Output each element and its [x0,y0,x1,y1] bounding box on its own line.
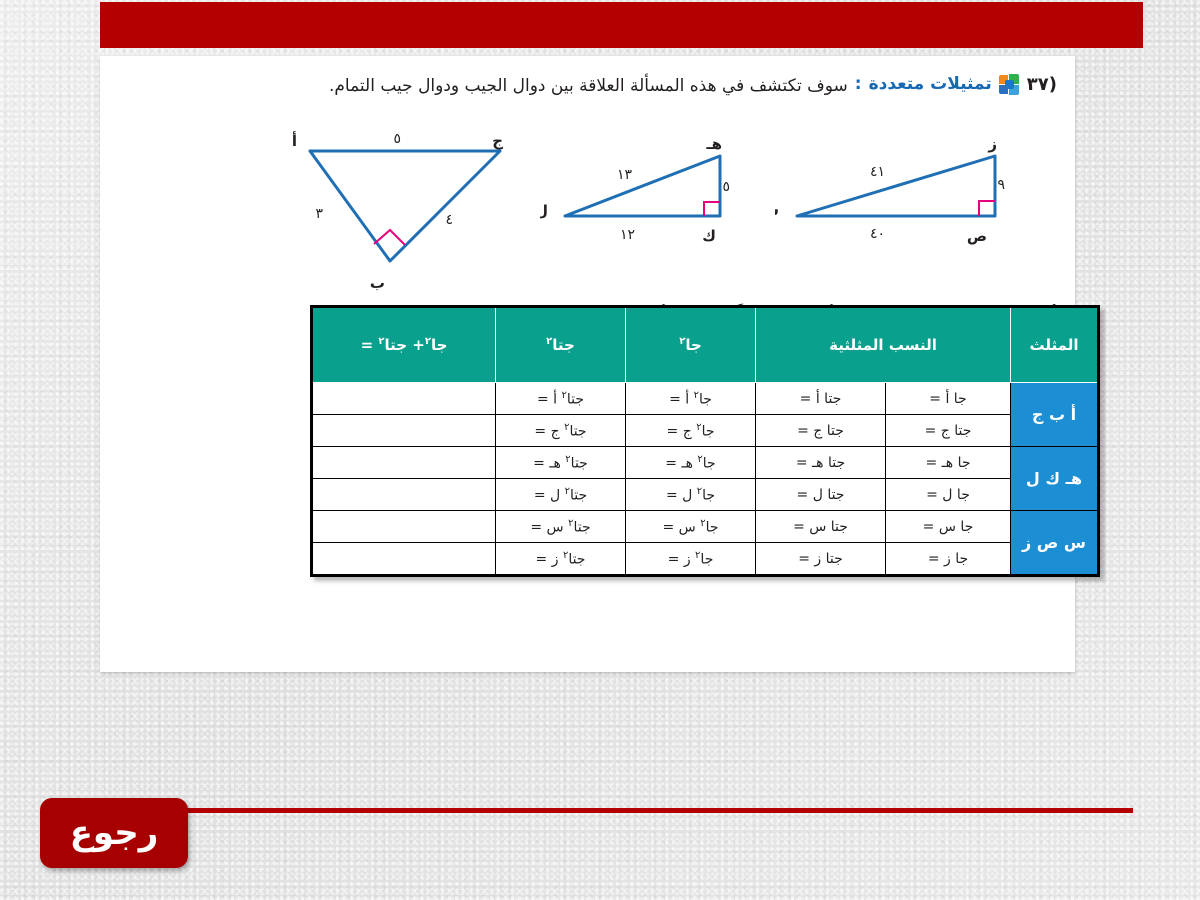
trig-table: المثلث النسب المثلثية جا٢ جتا٢ جا٢+ جتا٢… [310,305,1100,577]
cell-sin-squared[interactable]: جا٢ هـ = [626,447,756,479]
cell-sin-squared[interactable]: جا٢ ل = [626,479,756,511]
cell-sin[interactable]: جا هـ = [886,447,1011,479]
header-cos-squared: جتا٢ [496,307,626,383]
cell-cos-squared[interactable]: جتا٢ س = [496,511,626,543]
cell-sin-squared[interactable]: جا٢ س = [626,511,756,543]
row-label-ha-kaf-lam: هـ ك ل [1011,447,1099,511]
bottom-red-rule [180,808,1133,813]
table-row: جتا ج = جتا ج = جا٢ ج = جتا٢ ج = [312,415,1099,447]
trig-table-head: المثلث النسب المثلثية جا٢ جتا٢ جا٢+ جتا٢… [312,307,1099,383]
cell-sin-squared[interactable]: جا٢ ج = [626,415,756,447]
header-sum-identity: جا٢+ جتا٢ = [312,307,496,383]
cell-cos[interactable]: جتا هـ = [756,447,886,479]
side-length-hypotenuse: ٤١ [870,164,885,180]
cell-cos[interactable]: جتا ل = [756,479,886,511]
cell-sin-squared[interactable]: جا٢ أ = [626,383,756,415]
header-trig-ratios: النسب المثلثية [756,307,1011,383]
triangle-l-k-ha-figure: ل ك هـ ١٣ ٥ ١٢ [540,131,760,271]
vertex-label-ba: ب [370,274,385,292]
cell-sum-blank[interactable] [312,543,496,576]
cell-cos-squared[interactable]: جتا٢ ز = [496,543,626,576]
vertex-label-seen: س [775,201,779,219]
cell-cos[interactable]: جتا ز = [756,543,886,576]
vertex-label-jeem: ج [492,132,503,150]
question-number: (٣٧ [1027,72,1057,95]
cell-sin[interactable]: جا ل = [886,479,1011,511]
vertex-label-lam: ل [540,202,548,220]
vertex-label-zay: ز [987,135,997,153]
table-row: جا ل = جتا ل = جا٢ ل = جتا٢ ل = [312,479,1099,511]
side-length-base: ١٢ [620,227,635,243]
side-length-left: ٣ [315,206,323,222]
vertex-label-sad: ص [967,227,987,245]
cell-cos[interactable]: جتا س = [756,511,886,543]
side-length-vertical: ٩ [997,177,1005,193]
side-length-top: ٥ [393,131,401,147]
header-triangle: المثلث [1011,307,1099,383]
question-tag: تمثيلات متعددة [869,72,992,94]
triangle-s-sad-z-figure: س ص ز ٤١ ٩ ٤٠ [775,131,1035,271]
cell-sin[interactable]: جا ز = [886,543,1011,576]
triangle-l-k-ha-svg: ل ك هـ ١٣ ٥ ١٢ [540,131,760,271]
table-row: أ ب ج جا أ = جتا أ = جا٢ أ = جتا٢ أ = [312,383,1099,415]
top-red-banner [100,2,1143,48]
cell-sin-squared[interactable]: جا٢ ز = [626,543,756,576]
side-length-right: ٤ [445,212,453,228]
table-row: جا ز = جتا ز = جا٢ ز = جتا٢ ز = [312,543,1099,576]
back-button[interactable]: رجوع [40,798,188,868]
triangle-alef-ba-jeem-figure: أ ج ب ٥ ٣ ٤ [285,126,515,306]
cell-cos[interactable]: جتا أ = [756,383,886,415]
cell-cos-squared[interactable]: جتا٢ هـ = [496,447,626,479]
side-length-hypotenuse: ١٣ [617,167,633,183]
question-colon: : [855,72,862,94]
cell-sum-blank[interactable] [312,415,496,447]
cell-sin[interactable]: جتا ج = [886,415,1011,447]
cell-cos-squared[interactable]: جتا٢ ج = [496,415,626,447]
trig-table-header-row: المثلث النسب المثلثية جا٢ جتا٢ جا٢+ جتا٢… [312,307,1099,383]
cell-sin[interactable]: جا أ = [886,383,1011,415]
cell-cos-squared[interactable]: جتا٢ أ = [496,383,626,415]
cell-sum-blank[interactable] [312,383,496,415]
vertex-label-alef: أ [292,131,297,150]
table-row: هـ ك ل جا هـ = جتا هـ = جا٢ هـ = جتا٢ هـ… [312,447,1099,479]
table-row: س ص ز جا س = جتا س = جا٢ س = جتا٢ س = [312,511,1099,543]
vertex-label-kaf: ك [702,227,716,245]
trig-table-wrapper: المثلث النسب المثلثية جا٢ جتا٢ جا٢+ جتا٢… [310,305,1100,577]
cell-sum-blank[interactable] [312,511,496,543]
cell-cos-squared[interactable]: جتا٢ ل = [496,479,626,511]
side-length-base: ٤٠ [870,226,885,242]
cell-sum-blank[interactable] [312,479,496,511]
vertex-label-ha: هـ [705,135,722,153]
cell-sum-blank[interactable] [312,447,496,479]
cell-sin[interactable]: جا س = [886,511,1011,543]
cell-cos[interactable]: جتا ج = [756,415,886,447]
row-label-alef-ba-jeem: أ ب ج [1011,383,1099,447]
question-text: سوف تكتشف في هذه المسألة العلاقة بين دوا… [329,72,848,100]
side-length-vertical: ٥ [722,179,730,195]
trig-table-body: أ ب ج جا أ = جتا أ = جا٢ أ = جتا٢ أ = جت… [312,383,1099,576]
row-label-seen-sad-zay: س ص ز [1011,511,1099,576]
triangle-alef-ba-jeem-svg: أ ج ب ٥ ٣ ٤ [285,126,515,306]
triangle-s-sad-z-svg: س ص ز ٤١ ٩ ٤٠ [775,131,1035,271]
question-header: (٣٧ تمثيلات متعددة : سوف تكتشف في هذه ال… [118,72,1057,100]
multiple-representations-pinwheel-icon [999,74,1020,95]
header-sin-squared: جا٢ [626,307,756,383]
